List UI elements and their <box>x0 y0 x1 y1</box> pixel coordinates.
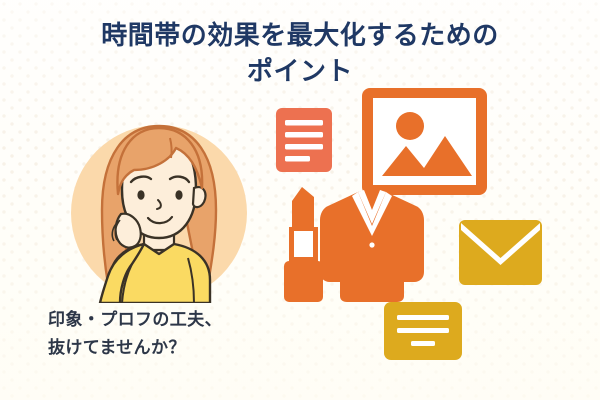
lipstick-icon <box>284 187 325 302</box>
blouse-icon <box>320 190 424 302</box>
woman-illustration <box>58 108 263 303</box>
caption-text: 印象・プロフの工夫、 抜けてませんか？ <box>48 306 288 361</box>
eye-left <box>137 190 144 200</box>
ear-right <box>193 187 206 207</box>
envelope-icon <box>459 220 542 285</box>
card-icon <box>384 302 462 360</box>
page-title: 時間帯の効果を最大化するための ポイント <box>0 18 600 90</box>
photo-icon <box>362 88 487 195</box>
slide-canvas: 時間帯の効果を最大化するための ポイント <box>0 0 600 400</box>
icon-cluster <box>264 80 594 380</box>
eye-right <box>175 190 182 200</box>
document-icon <box>276 108 332 172</box>
